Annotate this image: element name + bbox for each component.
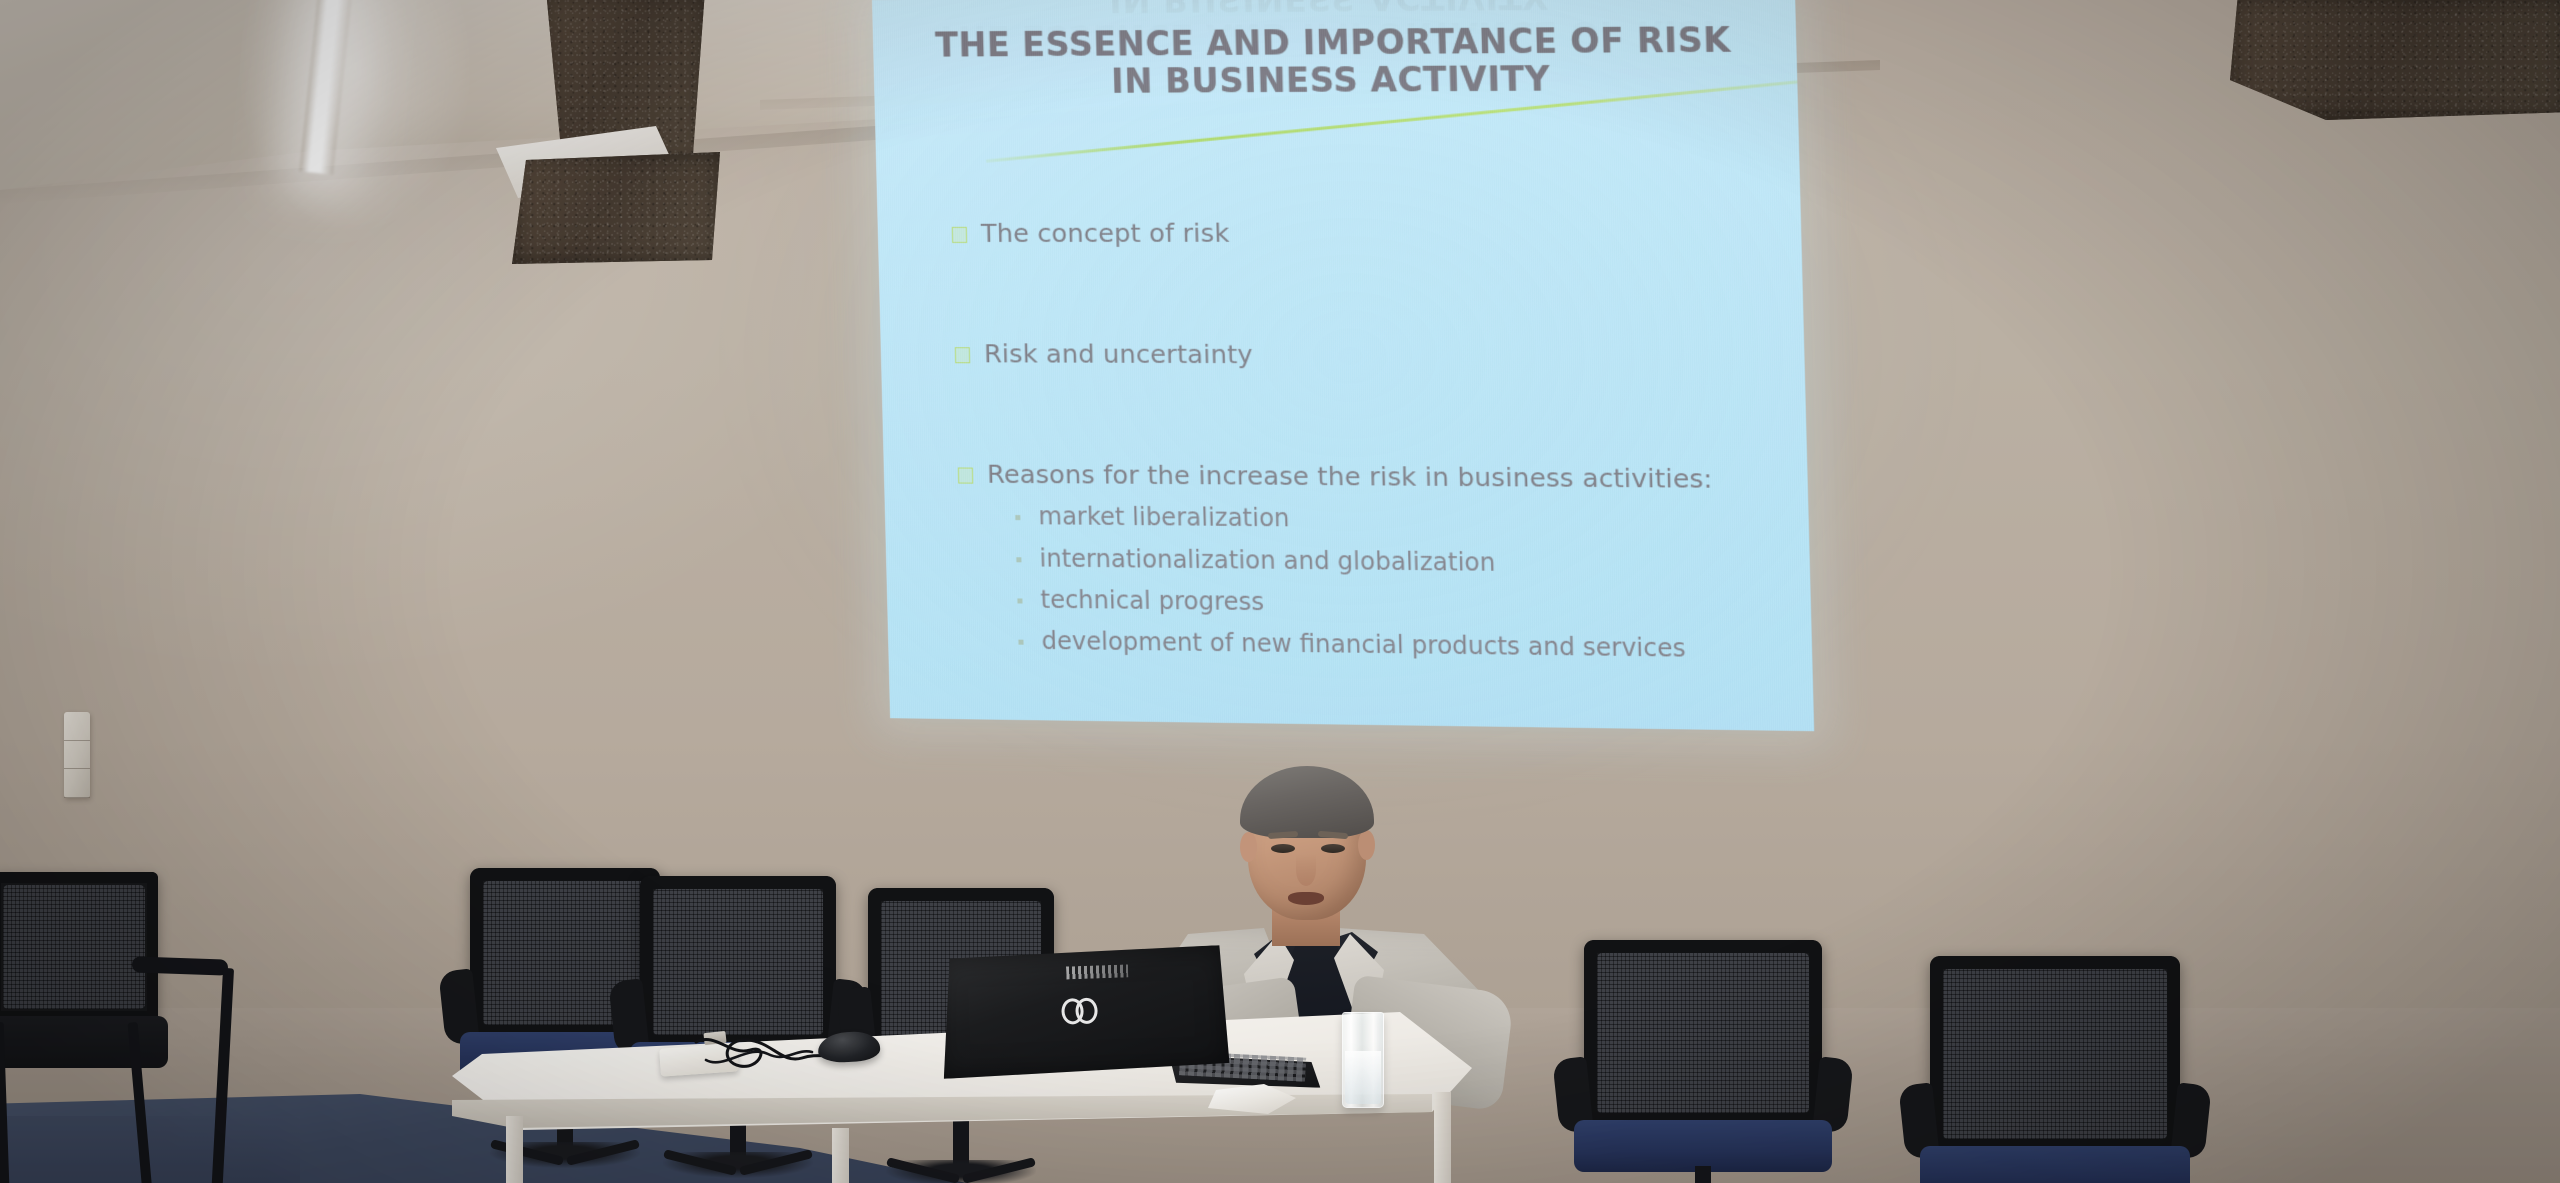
square-bullet-icon <box>952 227 967 243</box>
dot-bullet-icon <box>1017 598 1022 603</box>
water-glass[interactable] <box>1342 1012 1384 1108</box>
horizontal-stone-block-icon <box>512 152 722 264</box>
slide-bullet-label: The concept of risk <box>981 218 1230 251</box>
presentation-slide: THE ESSENCE AND IMPORTANCE OF RISK IN BU… <box>872 0 1814 731</box>
chair-left-3[interactable] <box>640 876 836 1048</box>
chair-right-2[interactable] <box>1930 956 2180 1152</box>
chair-seat <box>0 1016 168 1068</box>
chair-base <box>886 1160 1036 1183</box>
projection-area: THE ESSENCE AND IMPORTANCE OF RISK IN BU… <box>872 0 1815 744</box>
slide-sub-bullet-label: technical progress <box>1040 584 1264 618</box>
fujitsu-wordmark-icon <box>1066 964 1128 979</box>
chair-seat <box>1574 1120 1832 1172</box>
slide-bullet-list: The concept of risk Risk and uncertainty… <box>952 217 1786 677</box>
slide-sub-bullet-item: market liberalization <box>1015 501 1782 539</box>
chair-gas-post <box>1695 1166 1711 1183</box>
slide-sub-bullet-item: internationalization and globalization <box>1016 543 1783 582</box>
slide-bullet-item: The concept of risk <box>952 217 1775 250</box>
chair-backrest <box>1584 940 1822 1126</box>
chair-armrest-right <box>132 956 228 975</box>
fujitsu-infinity-logo-icon <box>1061 997 1102 1024</box>
ear-left <box>1240 832 1257 862</box>
chair-backrest <box>0 872 158 1022</box>
chair-base <box>663 1152 813 1178</box>
table-leg <box>832 1128 849 1183</box>
mouth <box>1288 892 1324 905</box>
switch-rocker-bottom[interactable] <box>64 769 90 798</box>
triple-light-switch[interactable] <box>64 712 90 798</box>
slide-bullet-item: Risk and uncertainty <box>955 338 1778 373</box>
chair-left-visitor[interactable] <box>0 872 158 1022</box>
square-bullet-icon <box>958 468 973 484</box>
dot-bullet-icon <box>1018 640 1023 645</box>
eye-left <box>1271 844 1295 853</box>
slide-bullet-label: Risk and uncertainty <box>984 338 1254 371</box>
chair-mesh <box>1597 953 1809 1113</box>
slide-sub-bullet-label: market liberalization <box>1038 502 1290 535</box>
eye-right <box>1321 844 1345 853</box>
chair-mesh <box>3 885 145 1009</box>
nose <box>1296 854 1316 886</box>
mouse-cable <box>690 1030 838 1074</box>
chair-backrest <box>1930 956 2180 1152</box>
switch-rocker-middle[interactable] <box>64 741 90 770</box>
switch-rocker-top[interactable] <box>64 712 90 741</box>
slide-title-block: THE ESSENCE AND IMPORTANCE OF RISK IN BU… <box>873 22 1798 102</box>
chair-right-1[interactable] <box>1584 940 1822 1126</box>
square-bullet-icon <box>955 347 970 363</box>
chair-seat <box>1920 1146 2190 1183</box>
chair-mesh <box>1943 969 2167 1139</box>
ear-right <box>1358 830 1375 860</box>
slide-sub-bullet-item: technical progress <box>1017 584 1784 624</box>
slide-sub-bullet-list: market liberalization internationalizati… <box>1015 501 1785 666</box>
slide-bullet-item: Reasons for the increase the risk in bus… <box>958 459 1781 497</box>
slide-title: THE ESSENCE AND IMPORTANCE OF RISK IN BU… <box>873 22 1798 102</box>
fujitsu-laptop[interactable] <box>934 945 1231 1103</box>
slide-bullet-label: Reasons for the increase the risk in bus… <box>987 459 1769 497</box>
table-leg <box>1434 1092 1451 1183</box>
slide-sub-bullet-label: development of new financial products an… <box>1041 626 1686 665</box>
dot-bullet-icon <box>1016 557 1021 562</box>
dot-bullet-icon <box>1015 515 1020 520</box>
slide-sub-bullet-label: internationalization and globalization <box>1039 543 1496 579</box>
chair-backrest <box>640 876 836 1048</box>
slide-sub-bullet-item: development of new financial products an… <box>1018 625 1785 666</box>
table-leg <box>506 1116 523 1183</box>
hair <box>1240 766 1374 838</box>
lecture-room-photo: THE ESSENCE AND IMPORTANCE OF RISK IN BU… <box>0 0 2560 1183</box>
chair-mesh <box>653 889 823 1035</box>
